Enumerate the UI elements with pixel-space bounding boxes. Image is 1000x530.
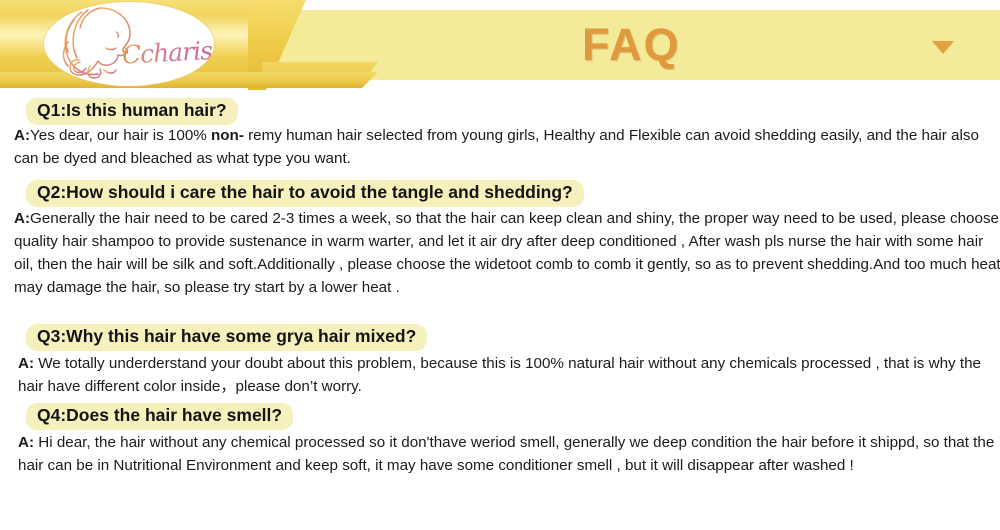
faq-answer-1: A:Yes dear, our hair is 100% non- remy h… bbox=[0, 124, 1000, 170]
page-banner: Cchariss FAQ bbox=[0, 0, 1000, 90]
faq-answer-1-part1: Yes dear, our hair is 100% bbox=[30, 127, 211, 144]
chevron-down-icon[interactable] bbox=[932, 41, 954, 54]
faq-answer-3: A: We totally underderstand your doubt a… bbox=[4, 352, 1000, 398]
faq-answer-4-text: Hi dear, the hair without any chemical p… bbox=[18, 434, 994, 474]
faq-question-1[interactable]: Q1:Is this human hair? bbox=[26, 98, 238, 125]
brand-script-text: Cchariss bbox=[121, 35, 214, 69]
faq-answer-1-emphasis: non- bbox=[211, 127, 244, 144]
faq-answer-4: A: Hi dear, the hair without any chemica… bbox=[4, 431, 1000, 477]
faq-answer-3-prefix: A: bbox=[18, 355, 34, 372]
faq-answer-2: A:Generally the hair need to be cared 2-… bbox=[0, 207, 1000, 299]
faq-question-4[interactable]: Q4:Does the hair have smell? bbox=[26, 403, 293, 430]
faq-answer-1-prefix: A: bbox=[14, 127, 30, 144]
page-title: FAQ bbox=[582, 19, 681, 71]
faq-answer-2-prefix: A: bbox=[14, 210, 30, 227]
faq-question-2[interactable]: Q2:How should i care the hair to avoid t… bbox=[26, 180, 584, 207]
faq-question-3[interactable]: Q3:Why this hair have some grya hair mix… bbox=[26, 324, 427, 351]
brand-logo: Cchariss bbox=[44, 2, 214, 86]
faq-answer-3-text: We totally underderstand your doubt abou… bbox=[18, 355, 981, 395]
faq-answer-2-text: Generally the hair need to be cared 2-3 … bbox=[14, 210, 1000, 296]
faq-answer-4-prefix: A: bbox=[18, 434, 34, 451]
